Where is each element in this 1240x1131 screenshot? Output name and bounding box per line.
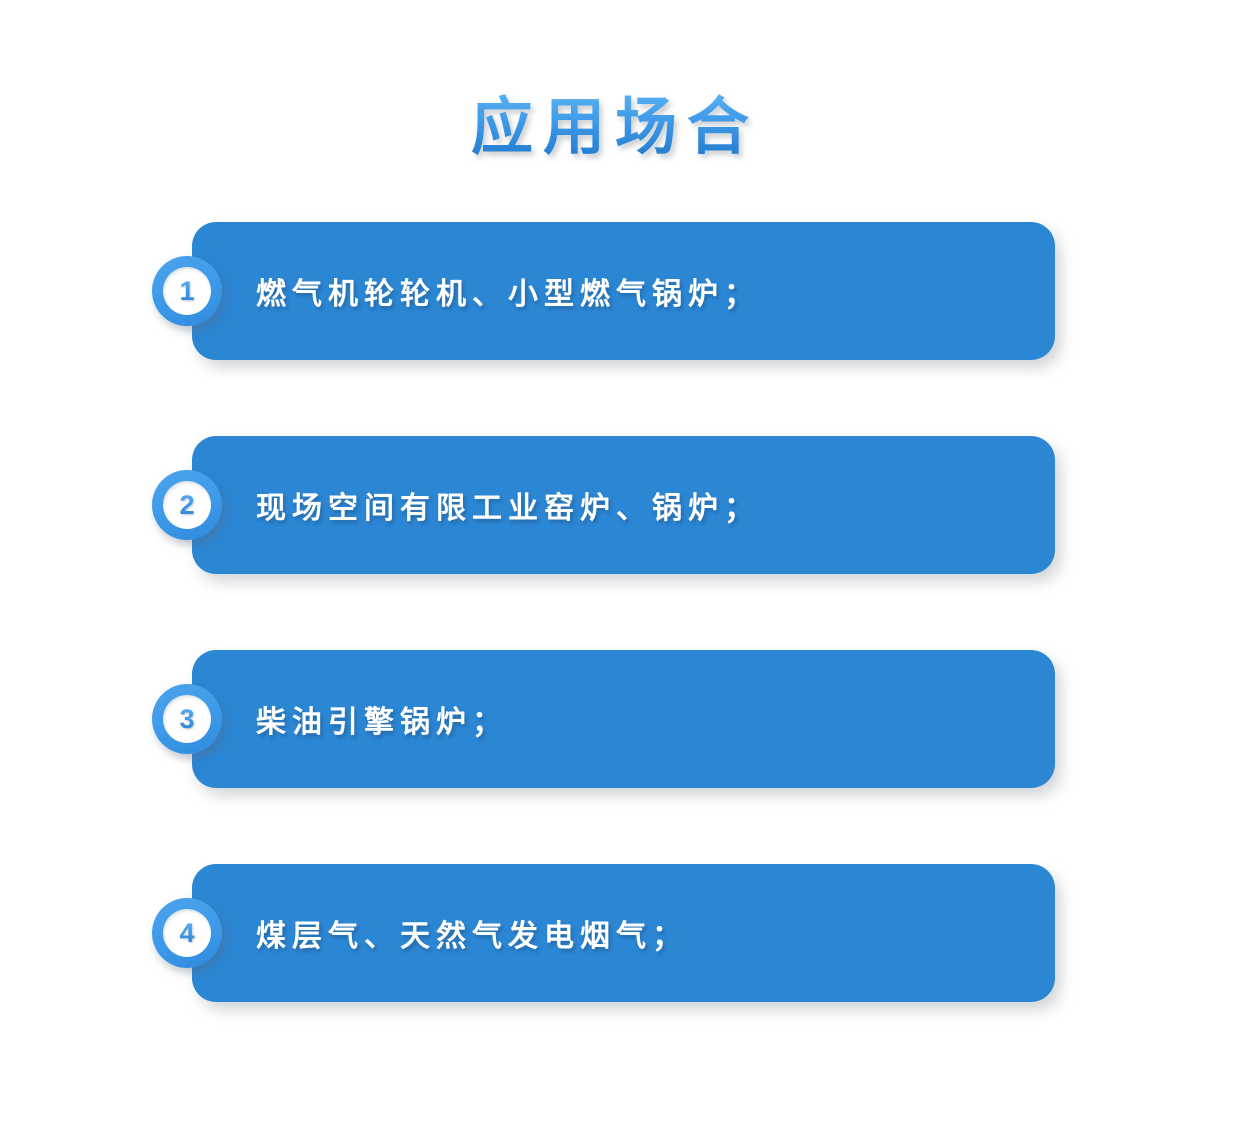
number-badge-label-1: 1 — [179, 278, 194, 305]
scenario-card-4[interactable]: 煤层气、天然气发电烟气； — [192, 864, 1055, 1002]
scenario-text-1: 燃气机轮轮机、小型燃气锅炉； — [256, 222, 760, 360]
number-badge-3: 3 — [152, 684, 222, 754]
scenario-text-4: 煤层气、天然气发电烟气； — [256, 864, 688, 1002]
application-scenarios-page: 应用场合 燃气机轮轮机、小型燃气锅炉； 1 现场空间有限工业窑炉、锅炉； 2 — [0, 0, 1240, 1131]
number-badge-1: 1 — [152, 256, 222, 326]
number-badge-label-3: 3 — [179, 706, 194, 733]
scenario-card-3[interactable]: 柴油引擎锅炉； — [192, 650, 1055, 788]
number-badge-label-4: 4 — [179, 920, 194, 947]
list-item[interactable]: 煤层气、天然气发电烟气； 4 — [0, 864, 1240, 1002]
scenario-text-3: 柴油引擎锅炉； — [256, 650, 508, 788]
scenario-card-2[interactable]: 现场空间有限工业窑炉、锅炉； — [192, 436, 1055, 574]
scenario-card-1[interactable]: 燃气机轮轮机、小型燃气锅炉； — [192, 222, 1055, 360]
number-badge-2: 2 — [152, 470, 222, 540]
list-item[interactable]: 燃气机轮轮机、小型燃气锅炉； 1 — [0, 222, 1240, 360]
page-title-container: 应用场合 — [0, 52, 1240, 203]
list-item[interactable]: 现场空间有限工业窑炉、锅炉； 2 — [0, 436, 1240, 574]
page-title: 应用场合 — [471, 94, 769, 162]
list-item[interactable]: 柴油引擎锅炉； 3 — [0, 650, 1240, 788]
number-badge-4: 4 — [152, 898, 222, 968]
number-badge-inner-4: 4 — [163, 909, 211, 957]
number-badge-inner-2: 2 — [163, 481, 211, 529]
number-badge-label-2: 2 — [179, 492, 194, 519]
number-badge-inner-1: 1 — [163, 267, 211, 315]
number-badge-inner-3: 3 — [163, 695, 211, 743]
scenario-text-2: 现场空间有限工业窑炉、锅炉； — [256, 436, 760, 574]
scenario-list: 燃气机轮轮机、小型燃气锅炉； 1 现场空间有限工业窑炉、锅炉； 2 柴油引擎锅炉… — [0, 222, 1240, 1002]
